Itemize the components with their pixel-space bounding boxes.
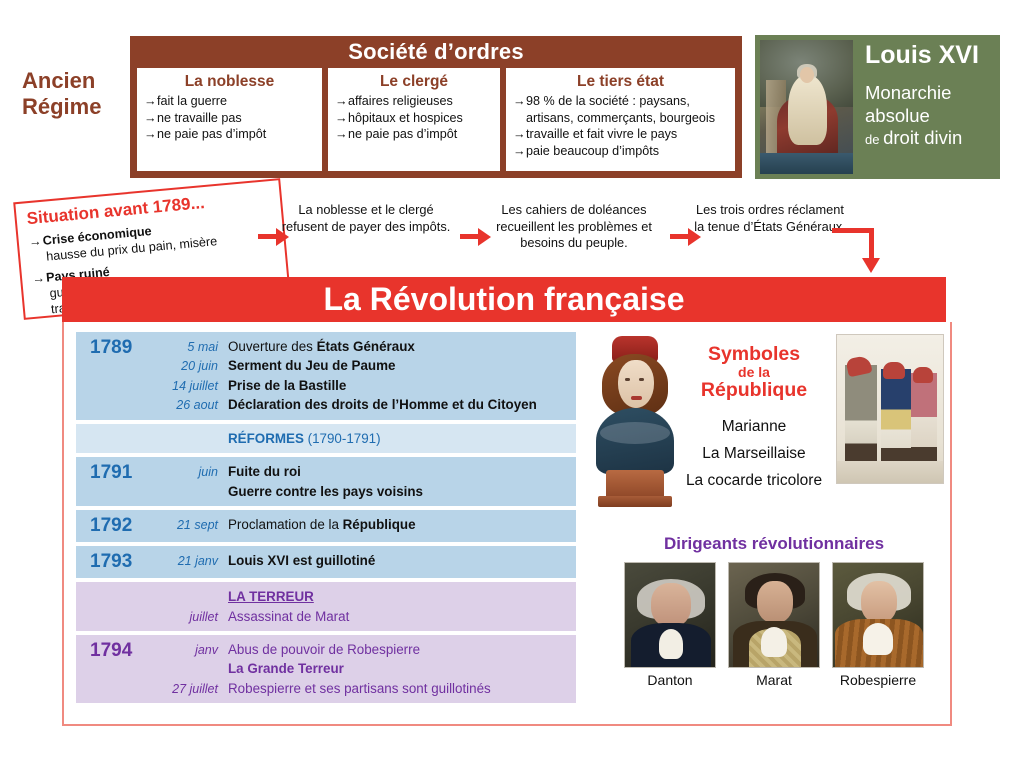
leaders-title: Dirigeants révolutionnaires	[604, 534, 944, 554]
timeline-row-1792: 1792 21 sept Proclamation de la Républiq…	[76, 510, 576, 542]
timeline-row-1794: 1794 janv Abus de pouvoir de Robespierre…	[76, 635, 576, 703]
arrow-glyph: →	[31, 269, 46, 287]
arrow-shaft	[258, 234, 278, 239]
order-point: →travaille et fait vivre le pays	[513, 126, 728, 143]
order-card-clerge: Le clergé →affaires religieuses →hôpitau…	[328, 68, 500, 171]
timeline-date: janv	[150, 641, 228, 659]
portrait-head	[800, 67, 814, 83]
arrow-glyph: →	[144, 126, 157, 143]
order-points-noblesse: →fait la guerre →ne travaille pas →ne pa…	[144, 93, 315, 143]
engraving-figure-3	[911, 373, 937, 461]
timeline-event-suffix: (1790-1791)	[304, 431, 381, 446]
flow-step-3-text: Les trois ordres réclament la tenue d’Ét…	[694, 202, 846, 235]
societe-dordres-panel: Société d’ordres La noblesse →fait la gu…	[130, 36, 742, 178]
portrait-cravat	[761, 627, 787, 657]
order-point-text: fait la guerre	[157, 94, 227, 108]
order-point-text: 98 % de la société : paysans, artisans, …	[526, 94, 715, 125]
timeline-year	[76, 429, 150, 448]
timeline-date: juin	[150, 463, 228, 481]
louis-line-2: absolue	[865, 105, 992, 128]
symbols-title: Symboles de la République	[684, 344, 824, 401]
order-point: →fait la guerre	[144, 93, 315, 110]
timeline: 1789 5 mai Ouverture des États Généraux …	[76, 332, 576, 707]
timeline-event-text: RÉFORMES	[228, 431, 304, 446]
order-point-text: affaires religieuses	[348, 94, 453, 108]
symbols-text-block: Symboles de la République Marianne La Ma…	[684, 344, 824, 494]
timeline-entries: juin Fuite du roi Guerre contre les pays…	[150, 462, 570, 501]
timeline-event-text: Proclamation de la	[228, 517, 343, 532]
arrow-glyph: →	[513, 126, 526, 143]
timeline-date: 26 aout	[150, 396, 228, 414]
flow-step-2-text: Les cahiers de doléances recueillent les…	[484, 202, 664, 252]
arrow-shaft	[460, 234, 480, 239]
arrow-glyph: →	[513, 143, 526, 160]
timeline-event: Proclamation de la République	[228, 515, 416, 534]
timeline-row-1793: 1793 21 janv Louis XVI est guillotiné	[76, 546, 576, 578]
marianne-bust-image	[592, 336, 676, 508]
order-card-tiers-etat: Le tiers état →98 % de la société : pays…	[506, 68, 735, 171]
order-point-text: ne paie pas d’impôt	[348, 127, 457, 141]
louis-xvi-portrait-image	[760, 40, 853, 174]
arrow-elbow-head	[862, 258, 880, 273]
ancien-regime-line2: Régime	[22, 94, 127, 120]
orders-row: La noblesse →fait la guerre →ne travaill…	[137, 68, 735, 171]
timeline-date: juillet	[150, 608, 228, 626]
timeline-entries: 21 janv Louis XVI est guillotiné	[150, 551, 570, 573]
timeline-event: Fuite du roi	[228, 462, 301, 481]
leader-marat: Marat	[728, 562, 820, 688]
order-point: →ne travaille pas	[144, 110, 315, 127]
timeline-event: Abus de pouvoir de Robespierre	[228, 640, 420, 659]
timeline-entry: 20 juin Serment du Jeu de Paume	[150, 356, 570, 375]
timeline-event: Serment du Jeu de Paume	[228, 356, 395, 375]
timeline-year: 1789	[76, 337, 150, 415]
leader-name: Robespierre	[832, 672, 924, 688]
symbols-section: Symboles de la République Marianne La Ma…	[592, 330, 944, 520]
arrow-glyph: →	[335, 126, 348, 143]
robespierre-portrait-image	[832, 562, 924, 668]
symbol-item: La cocarde tricolore	[684, 468, 824, 495]
danton-portrait-image	[624, 562, 716, 668]
timeline-event-emphasis: République	[343, 517, 416, 532]
timeline-entries: 5 mai Ouverture des États Généraux 20 ju…	[150, 337, 570, 415]
leader-robespierre: Robespierre	[832, 562, 924, 688]
portrait-ermine-cloak	[788, 75, 827, 145]
timeline-row-reformes: RÉFORMES (1790-1791)	[76, 424, 576, 453]
leader-name: Danton	[624, 672, 716, 688]
louis-line-3: de droit divin	[865, 127, 992, 150]
timeline-event: Ouverture des États Généraux	[228, 337, 415, 356]
portrait-face	[651, 583, 691, 627]
timeline-event: LA TERREUR	[228, 587, 314, 606]
louis-xvi-name: Louis XVI	[865, 43, 992, 68]
societe-dordres-title: Société d’ordres	[130, 39, 742, 65]
engraving-figure-1	[845, 365, 877, 461]
bust-eye-left	[625, 378, 630, 381]
portrait-face	[861, 581, 897, 623]
timeline-entry: Guerre contre les pays voisins	[150, 482, 570, 501]
bust-lips	[631, 396, 642, 400]
timeline-entry: La Grande Terreur	[150, 659, 570, 678]
order-point-text: travaille et fait vivre le pays	[526, 127, 677, 141]
arrow-glyph: →	[28, 233, 43, 251]
arrow-elbow-vertical	[869, 228, 874, 260]
order-point: →affaires religieuses	[335, 93, 493, 110]
flow-arrow-elbow-down-icon	[832, 228, 878, 278]
timeline-date: 27 juillet	[150, 680, 228, 698]
engraving-ground	[837, 461, 943, 483]
revolution-title-banner: La Révolution française	[62, 277, 946, 322]
timeline-event: Louis XVI est guillotiné	[228, 551, 375, 570]
louis-line-1: Monarchie	[865, 82, 992, 105]
portrait-face	[757, 581, 793, 623]
leader-danton: Danton	[624, 562, 716, 688]
symbol-item: Marianne	[684, 414, 824, 441]
order-point-text: paie beaucoup d’impôts	[526, 144, 659, 158]
order-points-clerge: →affaires religieuses →hôpitaux et hospi…	[335, 93, 493, 143]
order-point: →ne paie pas d’impôt	[335, 126, 493, 143]
bust-face	[618, 360, 654, 408]
symbols-list: Marianne La Marseillaise La cocarde tric…	[684, 414, 824, 494]
timeline-entry: 21 janv Louis XVI est guillotiné	[150, 551, 570, 570]
symbols-title-line2: de la	[684, 365, 824, 380]
portrait-cravat	[659, 629, 683, 659]
order-points-tiers-etat: →98 % de la société : paysans, artisans,…	[513, 93, 728, 159]
timeline-event-text: Ouverture des	[228, 339, 317, 354]
timeline-year: 1793	[76, 551, 150, 573]
revolution-title: La Révolution française	[324, 281, 685, 318]
ancien-regime-label: Ancien Régime	[22, 68, 127, 119]
timeline-date: 5 mai	[150, 338, 228, 356]
louis-xvi-panel: Louis XVI Monarchie absolue de droit div…	[755, 35, 1000, 179]
timeline-date: 21 janv	[150, 552, 228, 570]
main-content-panel: 1789 5 mai Ouverture des États Généraux …	[62, 322, 952, 726]
louis-line-3-prefix: de	[865, 132, 883, 147]
order-title-clerge: Le clergé	[335, 73, 493, 91]
order-point-text: ne paie pas d’impôt	[157, 127, 266, 141]
order-point: →paie beaucoup d’impôts	[513, 143, 728, 160]
arrow-glyph: →	[513, 93, 526, 110]
timeline-entry: 26 aout Déclaration des droits de l’Homm…	[150, 395, 570, 414]
timeline-row-1791: 1791 juin Fuite du roi Guerre contre les…	[76, 457, 576, 506]
timeline-event: Déclaration des droits de l’Homme et du …	[228, 395, 537, 414]
order-card-noblesse: La noblesse →fait la guerre →ne travaill…	[137, 68, 322, 171]
arrow-glyph: →	[144, 110, 157, 127]
bust-plinth	[598, 496, 672, 507]
timeline-event: Guerre contre les pays voisins	[228, 482, 423, 501]
timeline-event: Prise de la Bastille	[228, 376, 346, 395]
ancien-regime-line1: Ancien	[22, 68, 127, 94]
leaders-section: Dirigeants révolutionnaires Danton	[604, 534, 944, 688]
timeline-entry: janv Abus de pouvoir de Robespierre	[150, 640, 570, 659]
arrow-elbow-horizontal	[832, 228, 874, 233]
arrow-glyph: →	[144, 93, 157, 110]
timeline-date: 21 sept	[150, 516, 228, 534]
order-point: →98 % de la société : paysans, artisans,…	[513, 93, 728, 126]
timeline-event-emphasis: États Généraux	[317, 339, 415, 354]
marat-portrait-image	[728, 562, 820, 668]
arrow-shaft	[670, 234, 690, 239]
timeline-entry: 14 juillet Prise de la Bastille	[150, 376, 570, 395]
portrait-floor	[760, 153, 853, 174]
timeline-date: 20 juin	[150, 357, 228, 375]
arrow-glyph: →	[335, 110, 348, 127]
timeline-event: RÉFORMES (1790-1791)	[228, 429, 381, 448]
timeline-row-la-terreur: LA TERREUR juillet Assassinat de Marat	[76, 582, 576, 631]
leaders-row: Danton Marat	[604, 562, 944, 688]
louis-line-3-main: droit divin	[883, 127, 962, 148]
timeline-entry: 21 sept Proclamation de la République	[150, 515, 570, 534]
timeline-entry: juin Fuite du roi	[150, 462, 570, 481]
order-point: →ne paie pas d’impôt	[144, 126, 315, 143]
portrait-cravat	[863, 623, 893, 655]
arrow-glyph: →	[335, 93, 348, 110]
flow-step-1-text: La noblesse et le clergé refusent de pay…	[278, 202, 454, 235]
sans-culottes-engraving-image	[836, 334, 944, 484]
timeline-row-1789: 1789 5 mai Ouverture des États Généraux …	[76, 332, 576, 420]
timeline-entry: LA TERREUR	[150, 587, 570, 606]
timeline-year: 1791	[76, 462, 150, 501]
timeline-year: 1794	[76, 640, 150, 698]
leader-name: Marat	[728, 672, 820, 688]
order-title-tiers-etat: Le tiers état	[513, 73, 728, 91]
symbols-title-line3: République	[701, 379, 807, 401]
timeline-event: La Grande Terreur	[228, 659, 344, 678]
order-title-noblesse: La noblesse	[144, 73, 315, 91]
timeline-entries: janv Abus de pouvoir de Robespierre La G…	[150, 640, 570, 698]
order-point-text: ne travaille pas	[157, 111, 242, 125]
louis-xvi-subtitle: Monarchie absolue de droit divin	[865, 82, 992, 150]
louis-xvi-text: Louis XVI Monarchie absolue de droit div…	[853, 35, 1000, 179]
timeline-date: 14 juillet	[150, 377, 228, 395]
order-point-text: hôpitaux et hospices	[348, 111, 463, 125]
timeline-event: Assassinat de Marat	[228, 607, 349, 626]
timeline-entry: 5 mai Ouverture des États Généraux	[150, 337, 570, 356]
engraving-figure-3-cap	[913, 367, 933, 383]
order-point: →hôpitaux et hospices	[335, 110, 493, 127]
symbols-title-line1: Symboles	[708, 343, 800, 365]
infographic-french-revolution: Ancien Régime Société d’ordres La nobles…	[0, 0, 1024, 768]
timeline-year	[76, 587, 150, 626]
timeline-entry: RÉFORMES (1790-1791)	[150, 429, 570, 448]
timeline-event: Robespierre et ses partisans sont guillo…	[228, 679, 491, 698]
timeline-year: 1792	[76, 515, 150, 537]
timeline-entry: 27 juillet Robespierre et ses partisans …	[150, 679, 570, 698]
timeline-entries: LA TERREUR juillet Assassinat de Marat	[150, 587, 570, 626]
bust-drapery	[600, 422, 670, 444]
bust-eye-right	[639, 378, 644, 381]
engraving-figure-2-cap	[883, 362, 905, 379]
timeline-entries: RÉFORMES (1790-1791)	[150, 429, 570, 448]
timeline-entries: 21 sept Proclamation de la République	[150, 515, 570, 537]
timeline-entry: juillet Assassinat de Marat	[150, 607, 570, 626]
engraving-figure-2-drummer	[881, 369, 911, 461]
symbol-item: La Marseillaise	[684, 441, 824, 468]
